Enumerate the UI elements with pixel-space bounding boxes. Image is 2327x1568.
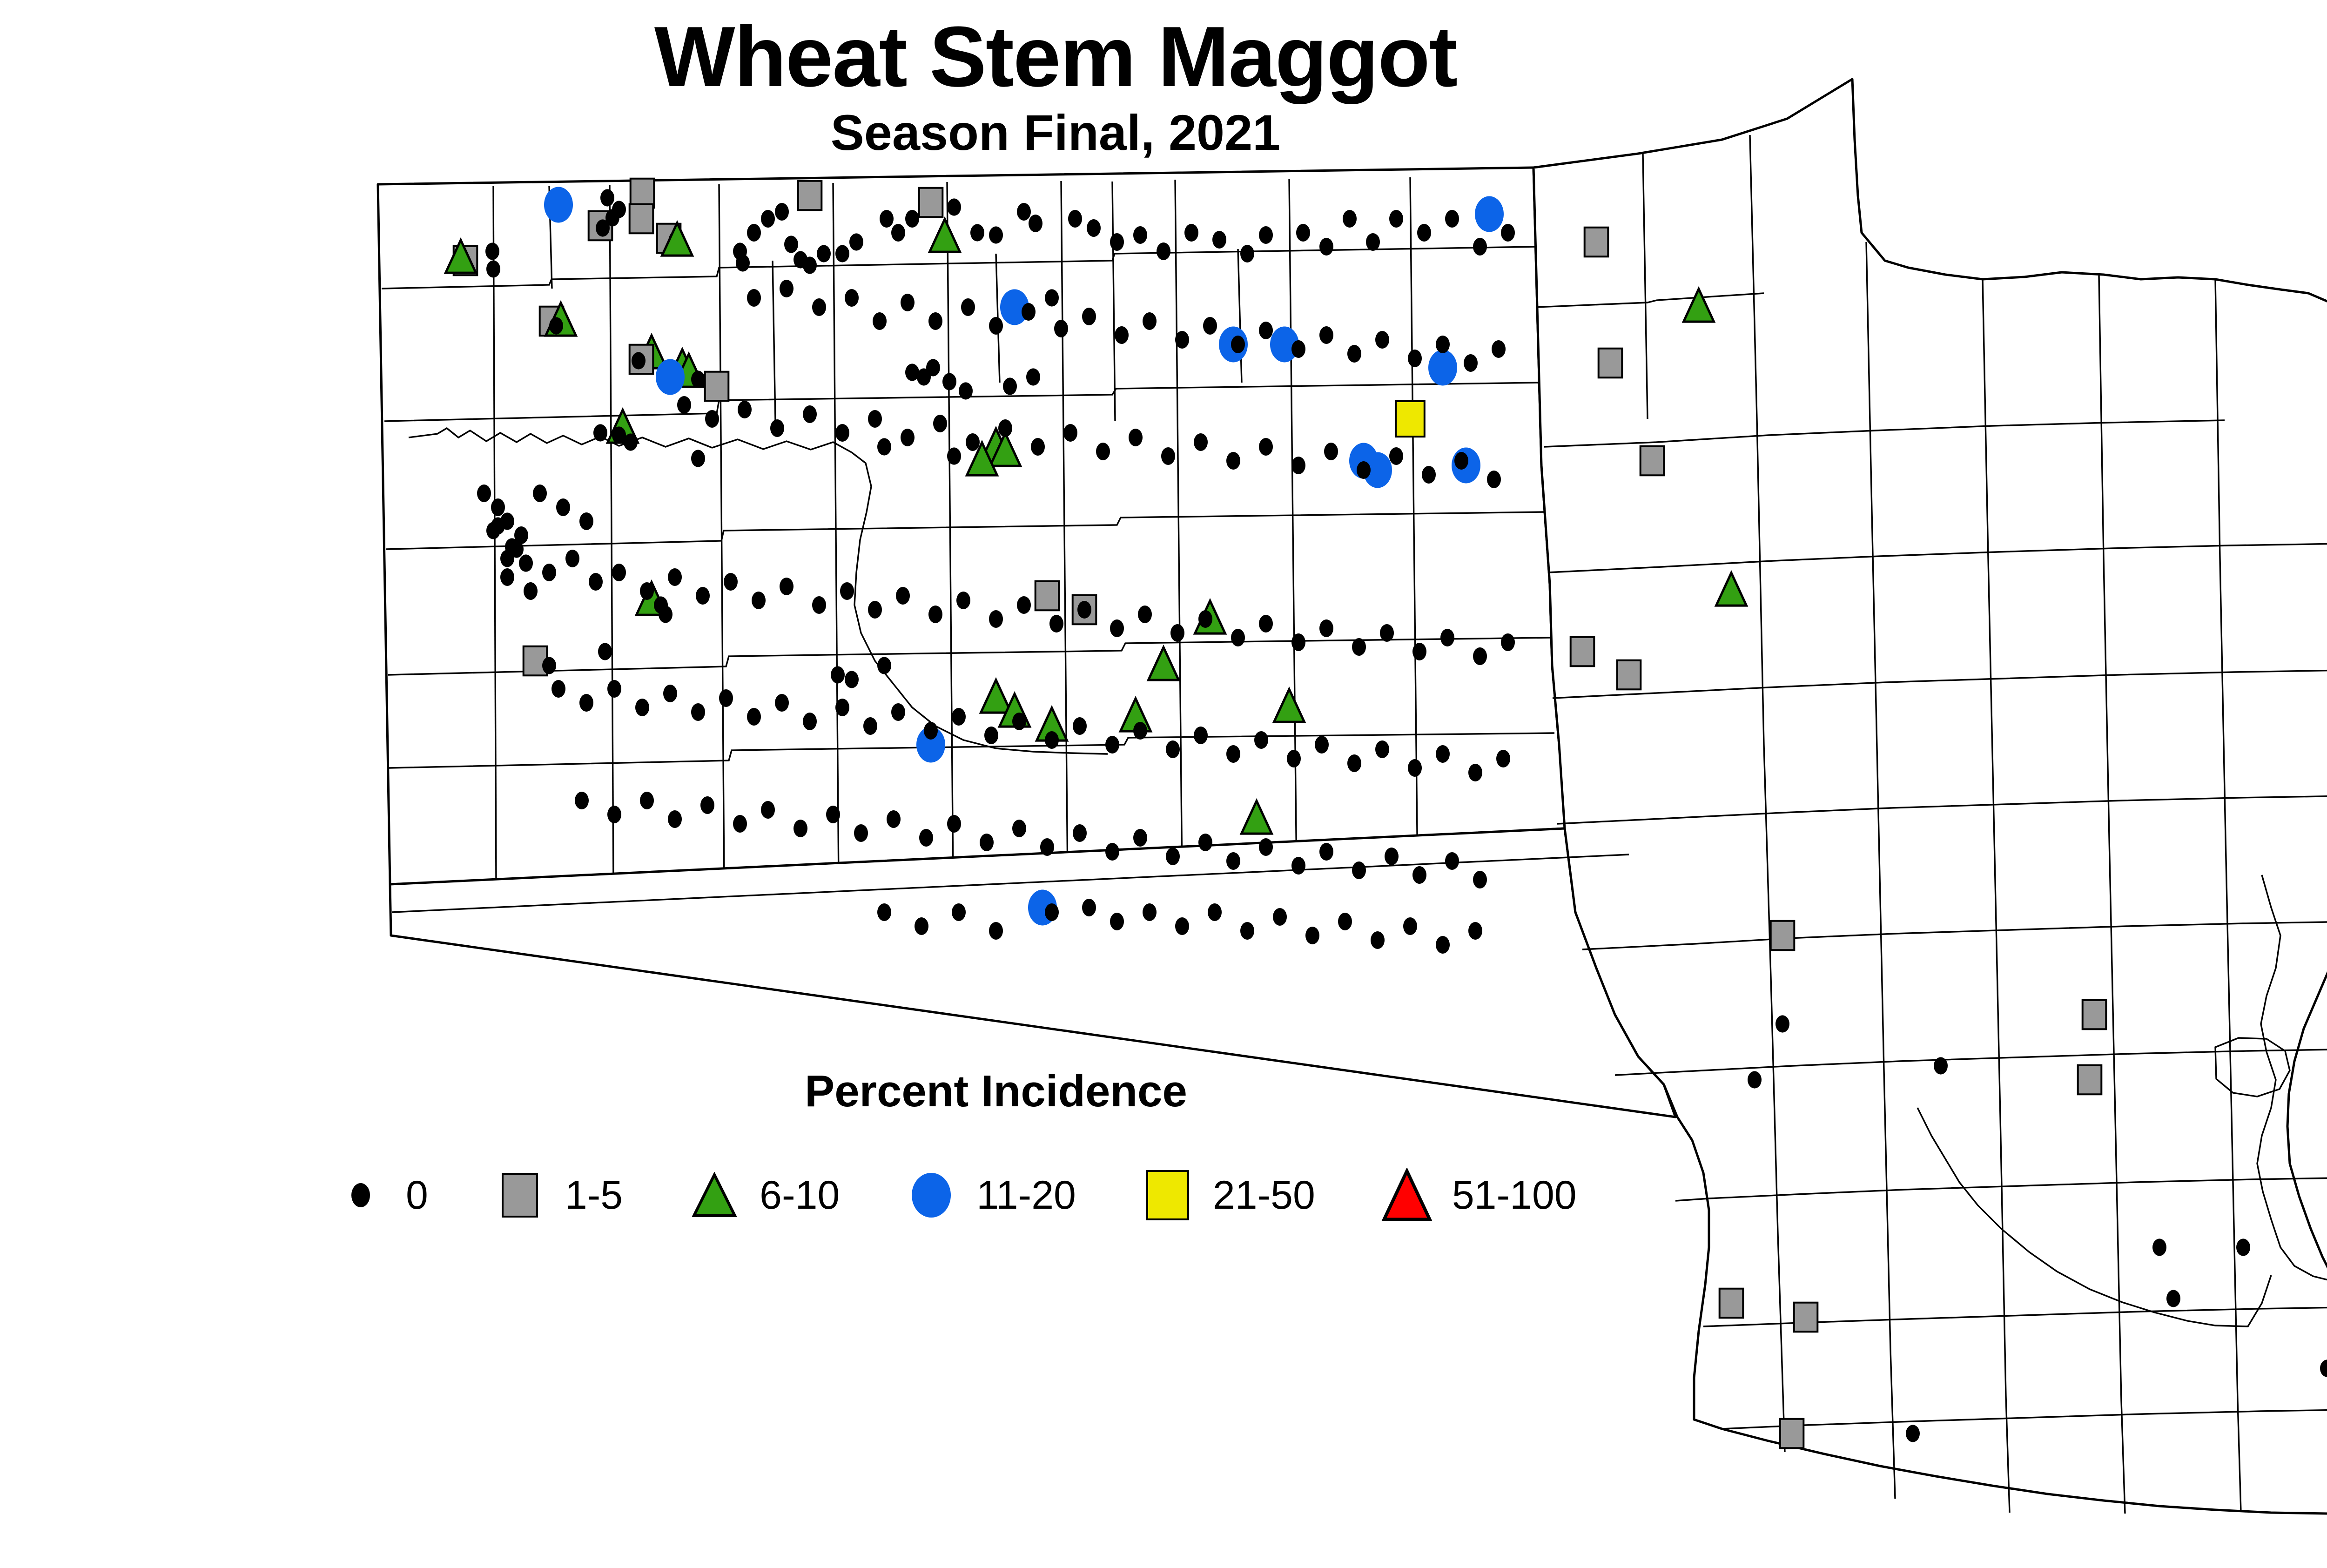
incidence-marker[interactable] xyxy=(542,657,556,674)
incidence-marker[interactable] xyxy=(579,694,593,712)
incidence-marker[interactable] xyxy=(1412,866,1426,884)
incidence-marker[interactable] xyxy=(1347,345,1361,363)
incidence-marker[interactable] xyxy=(770,419,784,437)
incidence-marker[interactable] xyxy=(915,917,928,935)
incidence-marker[interactable] xyxy=(663,685,677,702)
incidence-marker[interactable] xyxy=(803,713,817,730)
legend-item-4[interactable]: 21-50 xyxy=(1133,1169,1315,1221)
incidence-marker[interactable] xyxy=(1073,717,1087,735)
incidence-marker[interactable] xyxy=(733,815,747,833)
incidence-marker[interactable] xyxy=(1143,903,1157,921)
incidence-marker[interactable] xyxy=(1022,303,1036,321)
incidence-marker[interactable] xyxy=(1396,401,1425,437)
incidence-marker[interactable] xyxy=(1291,857,1305,875)
incidence-marker[interactable] xyxy=(1296,224,1310,242)
incidence-marker[interactable] xyxy=(747,708,761,726)
incidence-marker[interactable] xyxy=(1357,461,1371,479)
incidence-marker[interactable] xyxy=(1380,624,1394,642)
incidence-marker[interactable] xyxy=(1315,736,1329,754)
incidence-marker[interactable] xyxy=(1077,601,1091,619)
incidence-marker[interactable] xyxy=(691,450,705,467)
incidence-marker[interactable] xyxy=(542,564,556,581)
incidence-marker[interactable] xyxy=(668,568,682,586)
legend-label-0: 0 xyxy=(406,1172,428,1218)
incidence-marker[interactable] xyxy=(1240,245,1254,262)
incidence-marker[interactable] xyxy=(761,801,775,819)
incidence-marker[interactable] xyxy=(1133,226,1147,244)
incidence-marker[interactable] xyxy=(1012,820,1026,837)
incidence-marker[interactable] xyxy=(868,410,882,428)
incidence-marker[interactable] xyxy=(2152,1238,2166,1256)
incidence-marker[interactable] xyxy=(1473,871,1487,888)
legend: Percent Incidence 0 1-5 xyxy=(0,1066,1722,1221)
incidence-marker[interactable] xyxy=(1175,917,1189,935)
incidence-marker[interactable] xyxy=(1445,852,1459,870)
incidence-marker[interactable] xyxy=(1082,308,1096,325)
incidence-marker[interactable] xyxy=(1794,1303,1818,1332)
incidence-marker[interactable] xyxy=(1428,350,1457,386)
map-svg[interactable] xyxy=(0,0,2327,1568)
incidence-marker[interactable] xyxy=(826,806,840,823)
incidence-marker[interactable] xyxy=(926,359,940,376)
incidence-marker[interactable] xyxy=(1175,331,1189,349)
incidence-marker[interactable] xyxy=(817,245,831,262)
incidence-marker[interactable] xyxy=(1412,643,1426,660)
incidence-marker[interactable] xyxy=(2166,1290,2180,1307)
incidence-marker[interactable] xyxy=(1436,336,1450,353)
incidence-marker[interactable] xyxy=(947,815,961,833)
incidence-marker[interactable] xyxy=(1184,224,1198,242)
incidence-marker[interactable] xyxy=(1389,447,1403,465)
incidence-marker[interactable] xyxy=(1138,606,1152,623)
incidence-marker[interactable] xyxy=(933,415,947,432)
incidence-marker[interactable] xyxy=(1585,228,1608,257)
incidence-marker[interactable] xyxy=(880,210,894,228)
incidence-marker[interactable] xyxy=(942,373,956,390)
incidence-marker[interactable] xyxy=(775,694,789,712)
incidence-marker[interactable] xyxy=(1029,215,1042,232)
incidence-marker[interactable] xyxy=(1087,219,1101,237)
incidence-marker[interactable] xyxy=(845,289,859,307)
incidence-marker[interactable] xyxy=(1440,629,1454,646)
incidence-marker[interactable] xyxy=(1063,424,1077,442)
incidence-marker[interactable] xyxy=(1496,750,1510,767)
incidence-marker[interactable] xyxy=(1259,615,1273,633)
incidence-marker[interactable] xyxy=(1133,722,1147,740)
incidence-marker[interactable] xyxy=(1371,931,1385,949)
incidence-marker[interactable] xyxy=(1166,848,1180,865)
incidence-marker[interactable] xyxy=(1641,446,1664,476)
incidence-marker[interactable] xyxy=(1110,913,1124,930)
incidence-marker[interactable] xyxy=(1487,471,1501,488)
incidence-marker[interactable] xyxy=(1198,610,1212,628)
incidence-marker[interactable] xyxy=(477,485,491,502)
incidence-marker[interactable] xyxy=(486,522,500,539)
incidence-marker[interactable] xyxy=(747,289,761,307)
incidence-marker[interactable] xyxy=(519,554,533,572)
incidence-marker[interactable] xyxy=(1194,433,1208,451)
incidence-marker[interactable] xyxy=(1208,903,1222,921)
incidence-marker[interactable] xyxy=(984,727,998,744)
gray-square-icon xyxy=(485,1169,555,1221)
legend-label-1: 1-5 xyxy=(565,1172,623,1218)
incidence-marker[interactable] xyxy=(1385,848,1399,865)
incidence-marker[interactable] xyxy=(659,606,673,623)
incidence-marker[interactable] xyxy=(1473,238,1487,256)
incidence-marker[interactable] xyxy=(1161,447,1175,465)
incidence-marker[interactable] xyxy=(1017,203,1031,221)
incidence-marker[interactable] xyxy=(1105,843,1119,861)
legend-items: 0 1-5 6-10 xyxy=(0,1169,1722,1221)
incidence-marker[interactable] xyxy=(1273,908,1287,926)
incidence-marker[interactable] xyxy=(947,447,961,464)
incidence-marker[interactable] xyxy=(1780,1419,1804,1448)
blue-circle-icon xyxy=(896,1169,966,1221)
incidence-marker[interactable] xyxy=(598,643,612,660)
incidence-marker[interactable] xyxy=(1115,326,1129,344)
north-dakota-outline xyxy=(378,168,1565,884)
incidence-marker[interactable] xyxy=(1026,368,1040,385)
incidence-marker[interactable] xyxy=(1473,647,1487,665)
incidence-marker[interactable] xyxy=(1226,745,1240,763)
incidence-marker[interactable] xyxy=(877,903,891,921)
incidence-marker[interactable] xyxy=(1720,1289,1743,1318)
map-page: Wheat Stem Maggot Season Final, 2021 xyxy=(0,0,2327,1568)
incidence-marker[interactable] xyxy=(2236,1238,2250,1256)
incidence-marker[interactable] xyxy=(928,312,942,330)
incidence-marker[interactable] xyxy=(1040,838,1054,856)
incidence-marker[interactable] xyxy=(877,657,891,674)
legend-label-2: 6-10 xyxy=(760,1172,840,1218)
incidence-marker[interactable] xyxy=(1319,619,1333,637)
incidence-marker[interactable] xyxy=(961,298,975,316)
incidence-marker[interactable] xyxy=(1934,1057,1948,1074)
incidence-marker[interactable] xyxy=(1259,226,1273,244)
minnesota-state xyxy=(1533,79,2327,1514)
incidence-marker[interactable] xyxy=(863,717,877,735)
incidence-marker[interactable] xyxy=(1352,861,1366,879)
incidence-marker[interactable] xyxy=(780,280,794,297)
incidence-marker[interactable] xyxy=(1771,921,1795,950)
incidence-marker[interactable] xyxy=(2083,1000,2106,1030)
incidence-marker[interactable] xyxy=(966,433,980,451)
incidence-marker[interactable] xyxy=(928,606,942,623)
green-triangle-icon xyxy=(679,1169,749,1221)
incidence-marker[interactable] xyxy=(780,578,794,595)
incidence-marker[interactable] xyxy=(656,359,685,395)
incidence-marker[interactable] xyxy=(919,188,943,217)
incidence-marker[interactable] xyxy=(549,317,563,334)
incidence-marker[interactable] xyxy=(896,587,910,605)
incidence-marker[interactable] xyxy=(901,294,915,311)
incidence-marker[interactable] xyxy=(901,429,915,446)
incidence-marker[interactable] xyxy=(1748,1071,1762,1088)
incidence-marker[interactable] xyxy=(1617,660,1641,690)
incidence-marker[interactable] xyxy=(1287,750,1301,767)
incidence-marker[interactable] xyxy=(635,699,649,716)
legend-item-3[interactable]: 11-20 xyxy=(896,1169,1076,1221)
incidence-marker[interactable] xyxy=(1906,1425,1920,1442)
incidence-marker[interactable] xyxy=(668,810,682,828)
incidence-marker[interactable] xyxy=(491,498,505,516)
incidence-marker[interactable] xyxy=(607,680,621,698)
incidence-marker[interactable] xyxy=(1338,913,1352,930)
incidence-marker[interactable] xyxy=(632,352,646,369)
incidence-marker[interactable] xyxy=(1110,619,1124,637)
legend-label-3: 11-20 xyxy=(976,1172,1076,1218)
incidence-marker[interactable] xyxy=(1475,196,1504,232)
incidence-marker[interactable] xyxy=(705,372,729,401)
incidence-marker[interactable] xyxy=(905,210,919,228)
incidence-marker[interactable] xyxy=(1403,917,1417,935)
incidence-marker[interactable] xyxy=(551,680,565,698)
incidence-marker[interactable] xyxy=(1254,731,1268,749)
incidence-marker[interactable] xyxy=(600,189,614,206)
incidence-marker[interactable] xyxy=(1198,834,1212,851)
minnesota-outline xyxy=(1533,79,2327,1514)
incidence-marker[interactable] xyxy=(840,582,854,600)
incidence-marker[interactable] xyxy=(947,198,961,215)
incidence-marker[interactable] xyxy=(1166,740,1180,758)
incidence-marker[interactable] xyxy=(1389,210,1403,228)
incidence-marker[interactable] xyxy=(803,405,817,423)
incidence-marker[interactable] xyxy=(956,592,970,609)
incidence-marker[interactable] xyxy=(544,187,573,223)
incidence-marker[interactable] xyxy=(798,181,822,210)
incidence-marker[interactable] xyxy=(1436,745,1450,763)
incidence-marker[interactable] xyxy=(1343,210,1357,228)
incidence-marker[interactable] xyxy=(989,610,1003,628)
incidence-marker[interactable] xyxy=(719,689,733,707)
legend-item-2[interactable]: 6-10 xyxy=(679,1169,840,1221)
legend-label-5: 51-100 xyxy=(1452,1172,1577,1218)
incidence-marker[interactable] xyxy=(1231,336,1245,353)
incidence-marker[interactable] xyxy=(1375,331,1389,349)
incidence-marker[interactable] xyxy=(952,708,966,726)
incidence-marker[interactable] xyxy=(803,256,817,274)
incidence-marker[interactable] xyxy=(952,903,966,921)
incidence-marker[interactable] xyxy=(1599,349,1622,378)
incidence-marker[interactable] xyxy=(1226,852,1240,870)
incidence-marker[interactable] xyxy=(775,203,789,221)
incidence-marker[interactable] xyxy=(607,806,621,823)
incidence-marker[interactable] xyxy=(1408,350,1422,367)
incidence-marker[interactable] xyxy=(1143,312,1157,330)
incidence-marker[interactable] xyxy=(1319,843,1333,861)
incidence-marker[interactable] xyxy=(1133,829,1147,847)
incidence-marker[interactable] xyxy=(1501,224,1515,242)
incidence-marker[interactable] xyxy=(1036,581,1059,611)
incidence-marker[interactable] xyxy=(1073,824,1087,842)
incidence-marker[interactable] xyxy=(835,699,849,716)
incidence-marker[interactable] xyxy=(1259,322,1273,339)
incidence-marker[interactable] xyxy=(640,792,654,809)
yellow-square-icon xyxy=(1133,1169,1203,1221)
incidence-marker[interactable] xyxy=(624,433,638,451)
incidence-marker[interactable] xyxy=(1045,903,1059,921)
incidence-marker[interactable] xyxy=(1417,224,1431,242)
incidence-marker[interactable] xyxy=(514,526,528,544)
incidence-marker[interactable] xyxy=(989,317,1003,335)
incidence-marker[interactable] xyxy=(736,254,750,271)
incidence-marker[interactable] xyxy=(612,564,626,581)
incidence-marker[interactable] xyxy=(589,573,603,591)
incidence-marker[interactable] xyxy=(1468,922,1482,940)
incidence-marker[interactable] xyxy=(1291,457,1305,474)
incidence-marker[interactable] xyxy=(1096,443,1110,460)
incidence-marker[interactable] xyxy=(831,666,845,683)
incidence-marker[interactable] xyxy=(1464,354,1478,372)
incidence-marker[interactable] xyxy=(1492,340,1506,358)
incidence-marker[interactable] xyxy=(1468,764,1482,781)
incidence-marker[interactable] xyxy=(1045,731,1059,749)
incidence-marker[interactable] xyxy=(524,582,538,600)
incidence-marker[interactable] xyxy=(1319,326,1333,344)
incidence-marker[interactable] xyxy=(989,226,1003,243)
incidence-marker[interactable] xyxy=(593,424,607,441)
incidence-marker[interactable] xyxy=(1170,624,1184,642)
incidence-marker[interactable] xyxy=(877,438,891,455)
incidence-marker[interactable] xyxy=(849,233,863,250)
incidence-marker[interactable] xyxy=(486,260,500,277)
incidence-marker[interactable] xyxy=(959,382,973,399)
incidence-marker[interactable] xyxy=(747,224,761,242)
incidence-marker[interactable] xyxy=(1352,638,1366,656)
incidence-marker[interactable] xyxy=(605,209,619,226)
incidence-marker[interactable] xyxy=(989,922,1003,940)
incidence-marker[interactable] xyxy=(835,424,849,442)
incidence-marker[interactable] xyxy=(1501,633,1515,651)
incidence-marker[interactable] xyxy=(738,401,752,418)
incidence-marker[interactable] xyxy=(579,512,593,530)
incidence-marker[interactable] xyxy=(873,312,887,330)
legend-label-4: 21-50 xyxy=(1213,1172,1315,1218)
incidence-marker[interactable] xyxy=(1017,596,1031,614)
incidence-marker[interactable] xyxy=(1226,452,1240,470)
incidence-marker[interactable] xyxy=(691,703,705,721)
incidence-marker[interactable] xyxy=(1194,727,1208,744)
incidence-marker[interactable] xyxy=(1259,438,1273,456)
legend-item-0[interactable]: 0 xyxy=(326,1169,428,1221)
incidence-marker[interactable] xyxy=(1045,289,1059,306)
incidence-marker[interactable] xyxy=(1291,340,1305,358)
incidence-marker[interactable] xyxy=(705,410,719,428)
incidence-marker[interactable] xyxy=(891,224,905,242)
incidence-marker[interactable] xyxy=(1305,927,1319,944)
incidence-marker[interactable] xyxy=(887,810,901,828)
legend-title: Percent Incidence xyxy=(0,1066,1722,1117)
red-triangle-icon xyxy=(1372,1169,1442,1221)
incidence-marker[interactable] xyxy=(998,419,1012,437)
incidence-marker[interactable] xyxy=(891,703,905,721)
incidence-marker[interactable] xyxy=(1105,736,1119,754)
incidence-marker[interactable] xyxy=(868,601,882,619)
incidence-marker[interactable] xyxy=(485,242,499,260)
incidence-marker[interactable] xyxy=(1129,429,1143,446)
legend-item-5[interactable]: 51-100 xyxy=(1372,1169,1577,1221)
incidence-marker[interactable] xyxy=(1231,629,1245,646)
incidence-marker[interactable] xyxy=(575,792,589,809)
incidence-marker[interactable] xyxy=(1436,936,1450,954)
incidence-marker[interactable] xyxy=(1445,210,1459,228)
incidence-marker[interactable] xyxy=(565,550,579,567)
incidence-marker[interactable] xyxy=(1203,317,1217,335)
incidence-marker[interactable] xyxy=(845,671,859,688)
incidence-marker[interactable] xyxy=(500,568,514,586)
incidence-marker[interactable] xyxy=(835,245,849,262)
incidence-marker[interactable] xyxy=(794,820,807,837)
incidence-marker[interactable] xyxy=(1031,438,1045,456)
incidence-marker[interactable] xyxy=(1240,922,1254,940)
incidence-marker[interactable] xyxy=(761,210,775,228)
incidence-marker[interactable] xyxy=(1212,231,1226,249)
incidence-marker[interactable] xyxy=(2078,1065,2102,1095)
incidence-marker[interactable] xyxy=(696,587,710,605)
incidence-marker[interactable] xyxy=(630,204,653,234)
incidence-marker[interactable] xyxy=(970,224,984,241)
incidence-marker[interactable] xyxy=(640,582,654,600)
incidence-marker[interactable] xyxy=(1375,740,1389,758)
incidence-marker[interactable] xyxy=(1157,242,1170,260)
incidence-marker[interactable] xyxy=(854,824,868,842)
incidence-marker[interactable] xyxy=(1324,443,1338,460)
incidence-marker[interactable] xyxy=(1054,320,1068,337)
incidence-marker[interactable] xyxy=(752,592,766,609)
incidence-marker[interactable] xyxy=(1776,1015,1789,1032)
incidence-marker[interactable] xyxy=(1068,210,1082,228)
incidence-marker[interactable] xyxy=(1082,899,1096,916)
incidence-marker[interactable] xyxy=(677,396,691,414)
incidence-marker[interactable] xyxy=(1454,452,1468,470)
incidence-marker[interactable] xyxy=(1319,238,1333,256)
black-dot-icon xyxy=(326,1169,396,1221)
incidence-marker[interactable] xyxy=(691,370,705,388)
incidence-marker[interactable] xyxy=(1422,466,1436,484)
north-dakota-state xyxy=(378,168,1565,884)
incidence-marker[interactable] xyxy=(1571,637,1594,666)
incidence-marker[interactable] xyxy=(812,596,826,614)
incidence-marker[interactable] xyxy=(980,834,994,851)
incidence-marker[interactable] xyxy=(1003,377,1017,395)
incidence-marker[interactable] xyxy=(700,796,714,814)
map-canvas[interactable] xyxy=(0,0,2327,1568)
incidence-marker[interactable] xyxy=(1408,759,1422,777)
incidence-marker[interactable] xyxy=(724,573,738,591)
incidence-marker[interactable] xyxy=(556,498,570,516)
incidence-marker[interactable] xyxy=(1291,633,1305,651)
incidence-marker[interactable] xyxy=(1366,233,1380,251)
incidence-marker[interactable] xyxy=(1012,713,1026,730)
incidence-marker[interactable] xyxy=(924,722,938,740)
incidence-marker[interactable] xyxy=(533,485,547,502)
legend-item-1[interactable]: 1-5 xyxy=(485,1169,623,1221)
incidence-marker[interactable] xyxy=(1347,754,1361,772)
incidence-marker[interactable] xyxy=(1259,838,1273,856)
incidence-marker[interactable] xyxy=(500,550,514,567)
incidence-marker[interactable] xyxy=(1110,233,1124,251)
incidence-marker[interactable] xyxy=(919,829,933,847)
incidence-marker[interactable] xyxy=(812,298,826,316)
incidence-marker[interactable] xyxy=(1049,615,1063,633)
incidence-marker[interactable] xyxy=(784,236,798,253)
